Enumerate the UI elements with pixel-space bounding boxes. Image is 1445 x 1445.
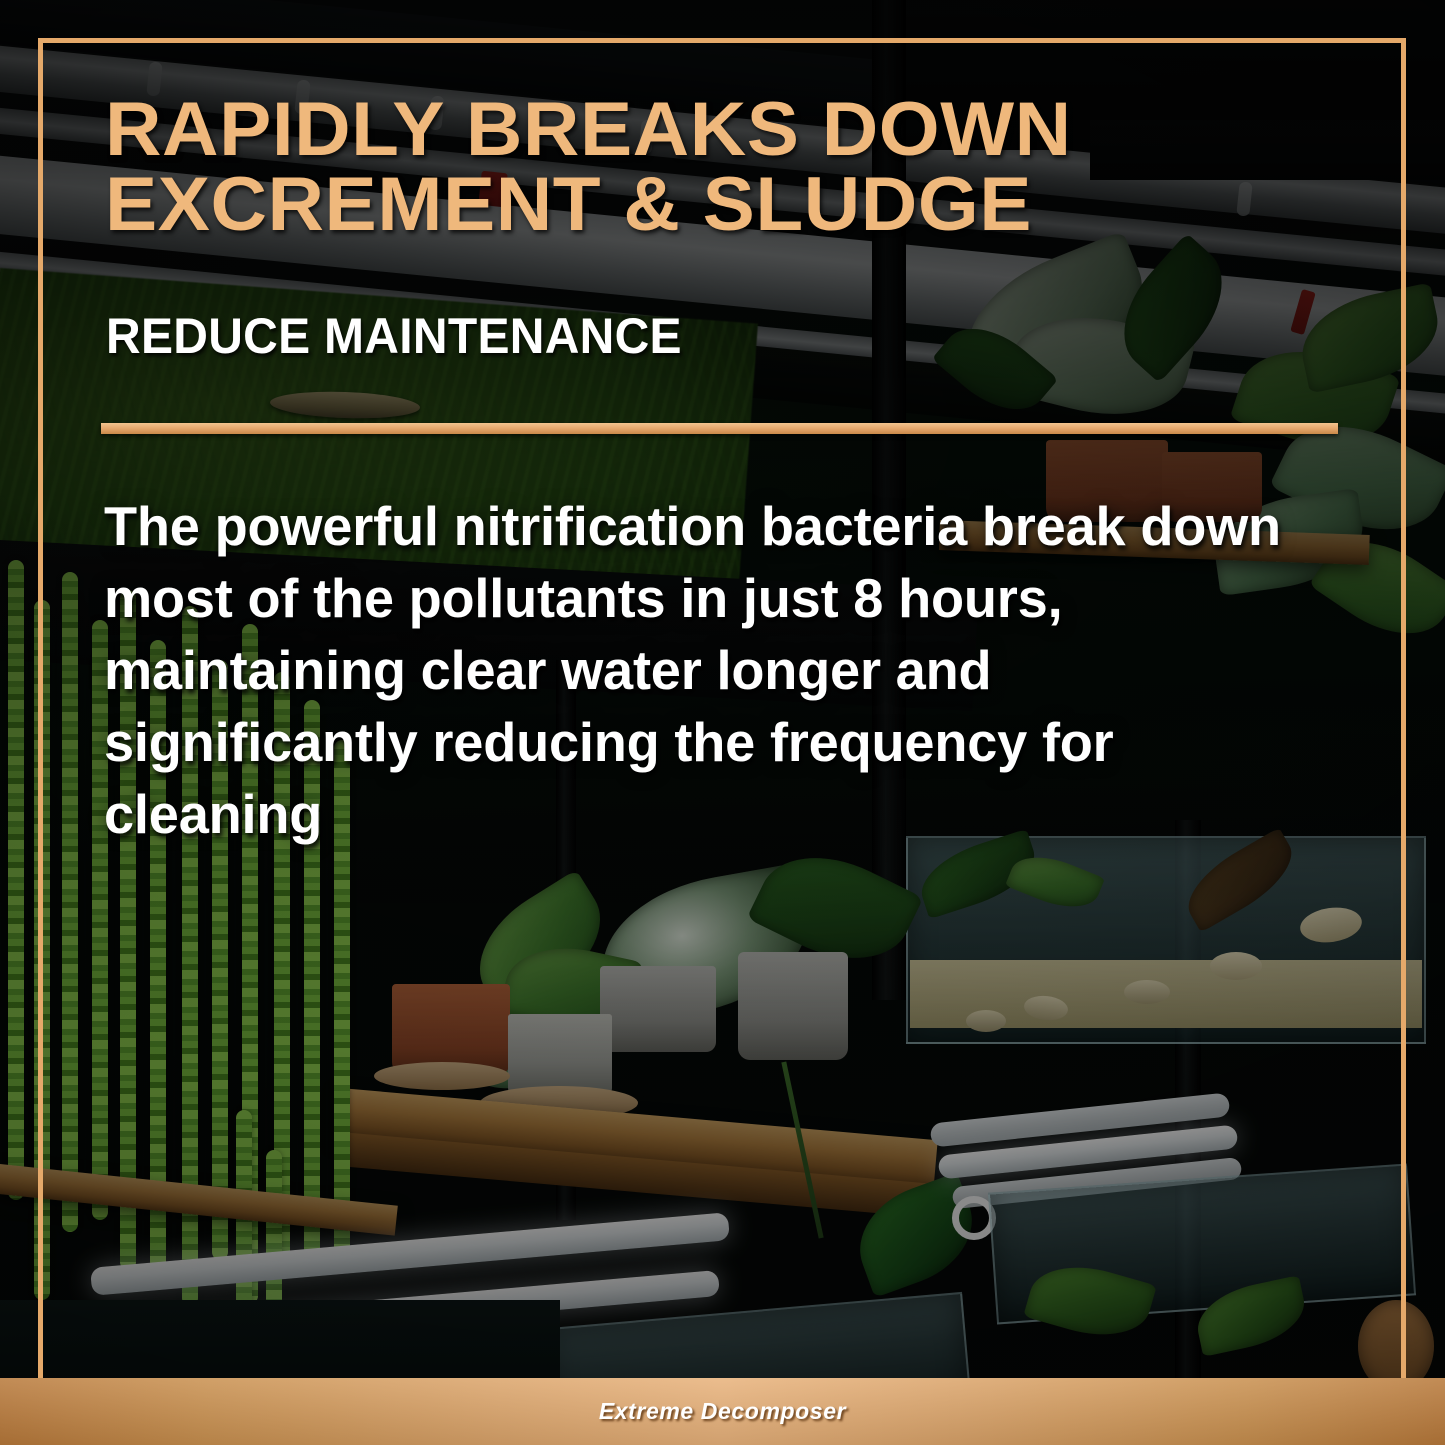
headline-line-2: EXCREMENT & SLUDGE: [105, 167, 1372, 242]
product-feature-poster: RAPIDLY BREAKS DOWN EXCREMENT & SLUDGE R…: [0, 0, 1445, 1445]
body-paragraph: The powerful nitrification bacteria brea…: [104, 490, 1316, 850]
product-name-label: Extreme Decomposer: [599, 1398, 846, 1425]
gold-divider-rule: [101, 423, 1338, 434]
headline: RAPIDLY BREAKS DOWN EXCREMENT & SLUDGE: [105, 92, 1372, 242]
headline-line-1: RAPIDLY BREAKS DOWN: [105, 87, 1072, 172]
subheadline: REDUCE MAINTENANCE: [106, 307, 682, 365]
footer-band: Extreme Decomposer: [0, 1378, 1445, 1445]
